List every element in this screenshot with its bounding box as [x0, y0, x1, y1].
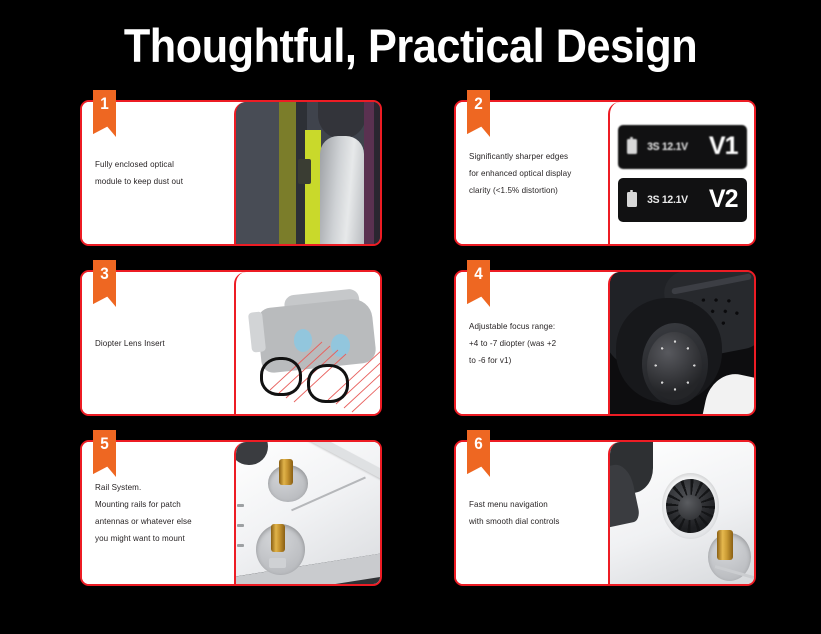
caption-line: antennas or whatever else: [95, 513, 192, 530]
card-caption-6: Fast menu navigation with smooth dial co…: [469, 496, 559, 530]
rail-system-image: [234, 442, 380, 584]
gasket-hook-detail: [298, 159, 311, 185]
card-number-badge-5: 5: [93, 430, 116, 477]
caption-line: clarity (<1.5% distortion): [469, 182, 571, 199]
dial-center-hub[interactable]: [678, 495, 702, 521]
caption-line: Fast menu navigation: [469, 496, 559, 513]
menu-dial-controls-image: [608, 442, 754, 584]
housing-olive-section: [279, 102, 296, 244]
caption-line: Diopter Lens Insert: [95, 335, 165, 352]
feature-card-6[interactable]: 6 Fast menu navigation with smooth dial …: [454, 440, 756, 586]
side-slot: [237, 544, 244, 547]
card-number-label: 5: [94, 435, 115, 453]
card-number-label: 6: [468, 435, 489, 453]
card-caption-4: Adjustable focus range: +4 to -7 diopter…: [469, 318, 556, 369]
feature-card-4[interactable]: 4 Adjustable focus range: +4 to -7 diopt…: [454, 270, 756, 416]
osd-panel-v2: 3S 12.1V V2: [618, 178, 747, 222]
caption-line: for enhanced optical display: [469, 165, 571, 182]
caption-line: with smooth dial controls: [469, 513, 559, 530]
osd-comparison-image: 3S 12.1V V1 3S 12.1V V2: [608, 102, 754, 244]
card-caption-3: Diopter Lens Insert: [95, 335, 165, 352]
focus-dial-image: [608, 272, 754, 414]
caption-line: Adjustable focus range:: [469, 318, 556, 335]
lens-barrel-cap: [318, 102, 366, 139]
card-number-badge-1: 1: [93, 90, 116, 137]
housing-edge-dark: [374, 102, 380, 244]
battery-icon: [627, 139, 637, 154]
card-number-label: 4: [468, 265, 489, 283]
seal-yellow-gasket: [305, 130, 321, 244]
battery-icon: [627, 192, 637, 207]
feature-card-1[interactable]: 1 Fully enclosed optical module to keep …: [80, 100, 382, 246]
optical-module-cutaway-image: [234, 102, 380, 244]
caption-line: Significantly sharper edges: [469, 148, 571, 165]
sma-connector: [717, 530, 733, 560]
feature-card-grid: 1 Fully enclosed optical module to keep …: [80, 100, 756, 586]
osd-panel-v1: 3S 12.1V V1: [618, 125, 747, 169]
sma-connector-top: [279, 459, 293, 485]
side-slot: [237, 524, 244, 527]
osd-version-label: V2: [709, 187, 738, 212]
diopter-ring-left: [260, 357, 302, 396]
osd-voltage-label: 3S 12.1V: [647, 141, 688, 153]
card-number-badge-2: 2: [467, 90, 490, 137]
lens-barrel-body: [320, 136, 365, 244]
osd-version-label: V1: [709, 134, 738, 159]
diopter-lens-insert-image: [234, 272, 380, 414]
card-number-label: 3: [94, 265, 115, 283]
card-number-badge-6: 6: [467, 430, 490, 477]
feature-card-2[interactable]: 2 Significantly sharper edges for enhanc…: [454, 100, 756, 246]
caption-line: Fully enclosed optical: [95, 156, 183, 173]
caption-line: module to keep dust out: [95, 173, 183, 190]
sma-connector-bottom: [271, 524, 285, 552]
caption-line: Mounting rails for patch: [95, 496, 192, 513]
osd-voltage-label: 3S 12.1V: [647, 194, 688, 206]
caption-line: to -6 for v1): [469, 352, 556, 369]
caption-line: you might want to mount: [95, 530, 192, 547]
caption-line: +4 to -7 diopter (was +2: [469, 335, 556, 352]
card-number-label: 2: [468, 95, 489, 113]
diopter-ring-right: [307, 364, 349, 403]
feature-card-5[interactable]: 5 Rail System. Mounting rails for patch …: [80, 440, 382, 586]
card-number-label: 1: [94, 95, 115, 113]
card-caption-2: Significantly sharper edges for enhanced…: [469, 148, 571, 199]
card-caption-1: Fully enclosed optical module to keep du…: [95, 156, 183, 190]
page-title: Thoughtful, Practical Design: [33, 18, 788, 73]
slide-root: Thoughtful, Practical Design 1 Fully enc…: [0, 0, 821, 634]
feature-card-3[interactable]: 3 Diopter Lens Insert: [80, 270, 382, 416]
housing-dark-section: [236, 102, 279, 244]
sma-base-plate: [269, 558, 286, 568]
card-number-badge-4: 4: [467, 260, 490, 307]
caption-line: Rail System.: [95, 479, 192, 496]
focus-knob-ticks: [652, 337, 698, 394]
card-number-badge-3: 3: [93, 260, 116, 307]
card-caption-5: Rail System. Mounting rails for patch an…: [95, 479, 192, 547]
